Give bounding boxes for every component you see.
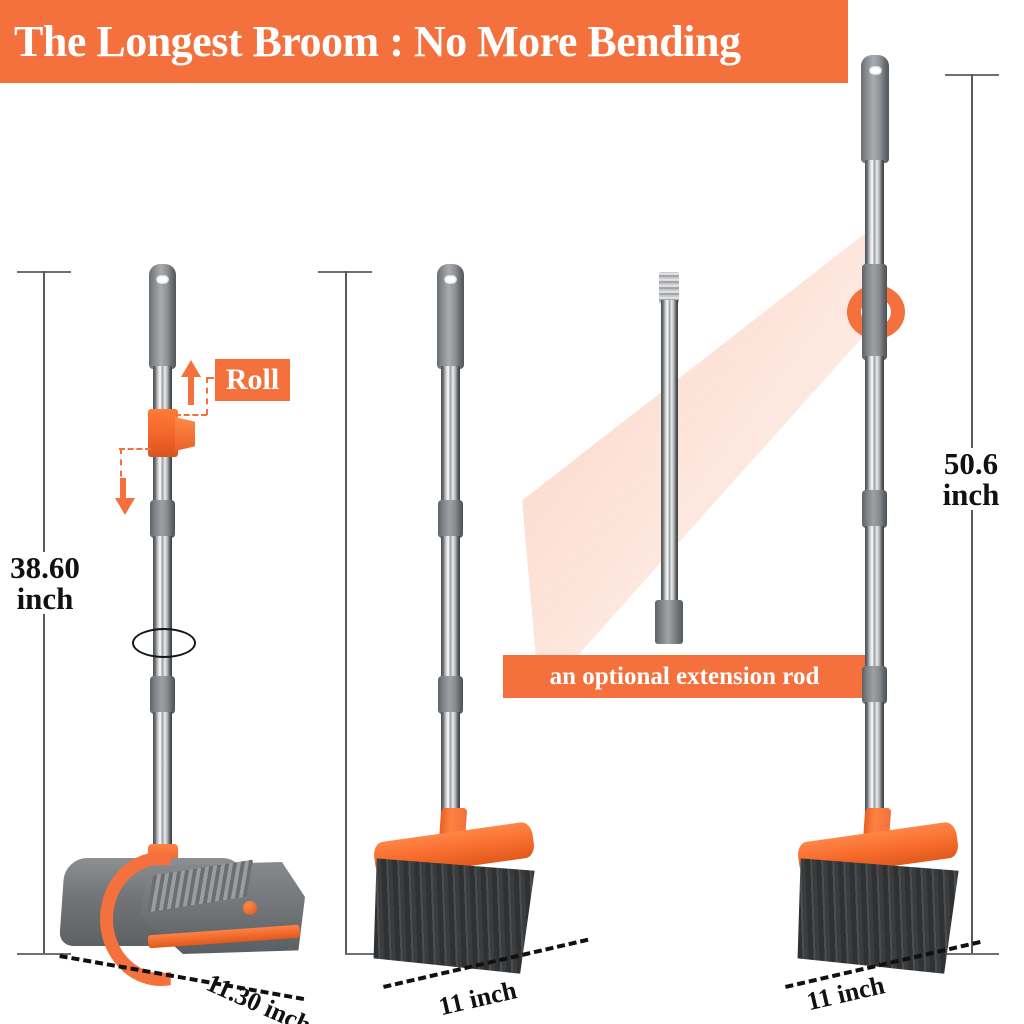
right-measure-line [971, 74, 973, 954]
broom-right-sleeve-lower [862, 666, 887, 704]
roll-clip-wing [175, 417, 195, 451]
broom-right-pole-bottom [865, 702, 884, 820]
roll-badge: Roll [215, 359, 290, 401]
extension-rod-end-cap [655, 600, 683, 644]
dustpan-hanging-hole [156, 275, 169, 284]
product-infographic: The Longest Broom : No More Bending 38.6… [0, 0, 1024, 1024]
roll-dash-up-to-badge [206, 377, 214, 379]
broom-right-pole-top [865, 160, 884, 270]
broom-right-bristles [794, 845, 962, 979]
dustpan-pole-mid [153, 536, 172, 682]
page-title: The Longest Broom : No More Bending [14, 16, 740, 67]
dustpan-pole-sleeve-upper [150, 500, 175, 538]
broom-mid-sleeve-upper [438, 500, 463, 538]
left-height-label: 38.60 inch [0, 552, 90, 614]
broom-mid-pole-lower [441, 712, 460, 820]
roll-badge-label: Roll [226, 363, 279, 397]
extension-rod-shaft [661, 300, 678, 610]
broom-right-pole-lower [865, 526, 884, 672]
broom-right-sleeve-top-overlay [862, 264, 887, 360]
dustpan-release-knob [243, 901, 257, 915]
broom-right-hanging-hole [869, 66, 882, 75]
broom-mid-hanging-hole [444, 275, 457, 284]
broom-mid-width-label: 11 inch [436, 975, 519, 1022]
roll-dash-up-horizontal [175, 414, 207, 416]
roll-dash-up-vertical [206, 377, 208, 415]
header-banner: The Longest Broom : No More Bending [0, 0, 848, 83]
right-measure-tick-bottom [945, 953, 999, 955]
extension-rod-beam [522, 228, 872, 698]
extension-rod-banner: an optional extension rod [503, 655, 866, 698]
broom-mid-pole-mid [441, 536, 460, 682]
pole-ring-outline-icon [132, 628, 196, 658]
dustpan-pole-sleeve-lower [150, 676, 175, 714]
broom-mid-pole-upper [441, 366, 460, 506]
roll-clip [148, 409, 178, 457]
arrow-down-icon [115, 498, 135, 515]
arrow-up-icon [181, 360, 201, 377]
broom-right-sleeve-mid [862, 490, 887, 528]
roll-dash-down-horizontal [119, 448, 151, 450]
broom-mid-sleeve-lower [438, 676, 463, 714]
broom-right-pole-mid [865, 356, 884, 496]
mid-measure-line [345, 271, 347, 955]
right-height-label: 50.6 inch [918, 448, 1024, 510]
roll-arrow-up-shaft [188, 375, 194, 405]
dustpan-pole-lower [153, 712, 172, 852]
extension-rod-banner-label: an optional extension rod [550, 663, 820, 691]
